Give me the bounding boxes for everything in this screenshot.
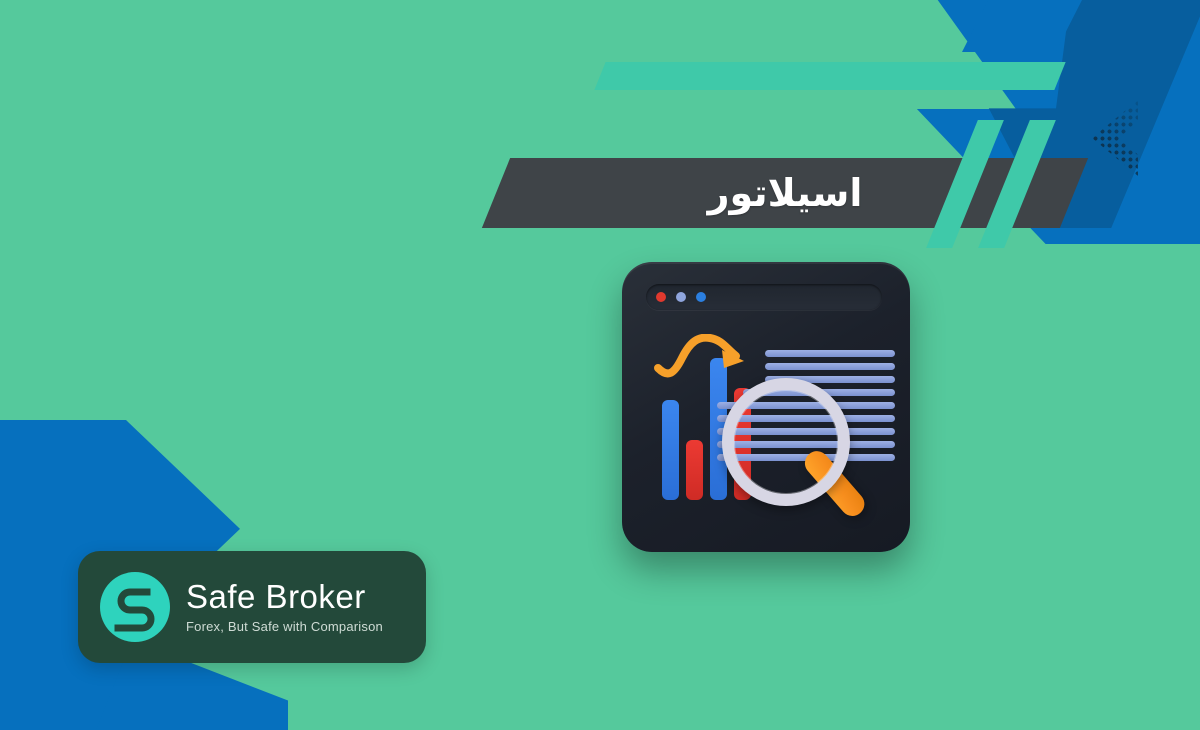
poster-canvas: اسیلاتور [0, 0, 1200, 730]
brand-text: Safe Broker Forex, But Safe with Compari… [186, 580, 383, 635]
magnifier-ring [722, 378, 850, 506]
window-dot-lavender-icon [676, 292, 686, 302]
page-title: اسیلاتور [496, 158, 1074, 228]
magnifier-icon [722, 378, 850, 538]
window-dot-blue-icon [696, 292, 706, 302]
banner-accent-bar [594, 62, 1065, 90]
chart-bar-1 [662, 400, 679, 500]
window-dot-red-icon [656, 292, 666, 302]
analytics-illustration [622, 262, 914, 562]
brand-name: Safe Broker [186, 580, 383, 615]
title-banner: اسیلاتور [0, 62, 1100, 192]
window-titlebar [646, 284, 882, 310]
top-right-strip [962, 0, 1082, 52]
safe-broker-mark-icon [100, 572, 170, 642]
chart-bar-2 [686, 440, 703, 500]
brand-tagline: Forex, But Safe with Comparison [186, 619, 383, 634]
text-line [765, 363, 895, 370]
brand-logo: Safe Broker Forex, But Safe with Compari… [78, 551, 426, 663]
text-line [765, 350, 895, 357]
trend-arrow-icon [654, 334, 764, 384]
